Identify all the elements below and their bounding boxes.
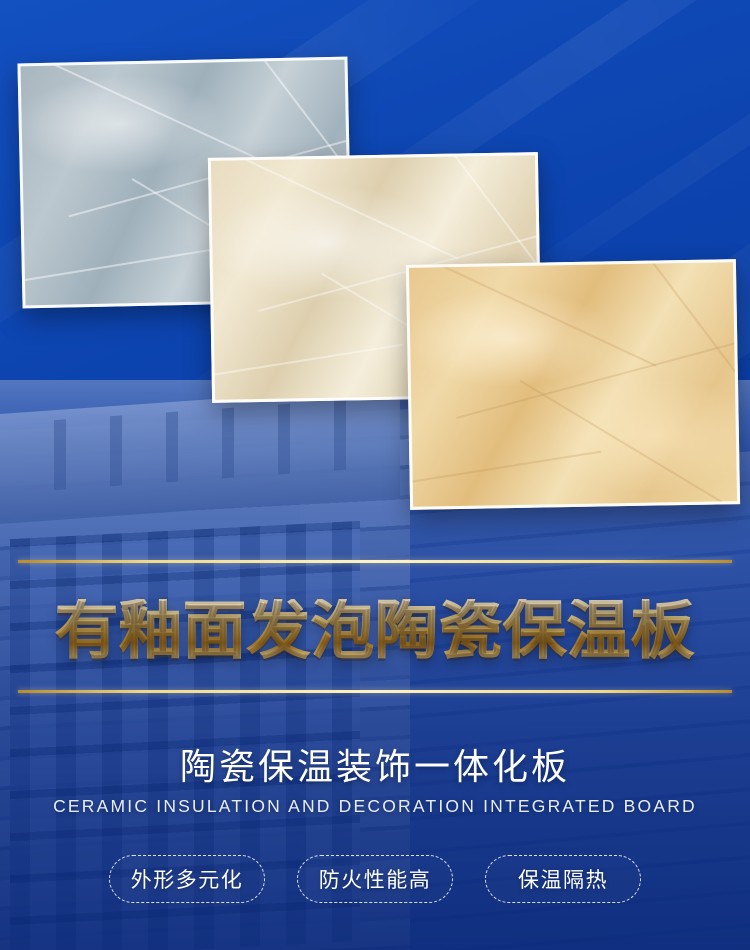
subtitle-chinese: 陶瓷保温装饰一体化板 [0, 738, 750, 790]
feature-pill-fire-resistance: 防火性能高 [297, 855, 453, 903]
feature-pill-thermal-insulation: 保温隔热 [485, 855, 641, 903]
gold-divider-top [18, 560, 732, 563]
subtitle-english: CERAMIC INSULATION AND DECORATION INTEGR… [0, 796, 750, 817]
feature-pill-list: 外形多元化 防火性能高 保温隔热 [0, 855, 750, 903]
golden-marble-tile-sample [406, 259, 740, 510]
product-poster: 有釉面发泡陶瓷保温板 陶瓷保温装饰一体化板 CERAMIC INSULATION… [0, 0, 750, 950]
marble-vein-pattern [409, 262, 737, 507]
headline-container: 有釉面发泡陶瓷保温板 [0, 580, 750, 680]
feature-pill-shape-variety: 外形多元化 [109, 855, 265, 903]
gold-divider-bottom [18, 690, 732, 693]
page-title: 有釉面发泡陶瓷保温板 [55, 599, 695, 662]
